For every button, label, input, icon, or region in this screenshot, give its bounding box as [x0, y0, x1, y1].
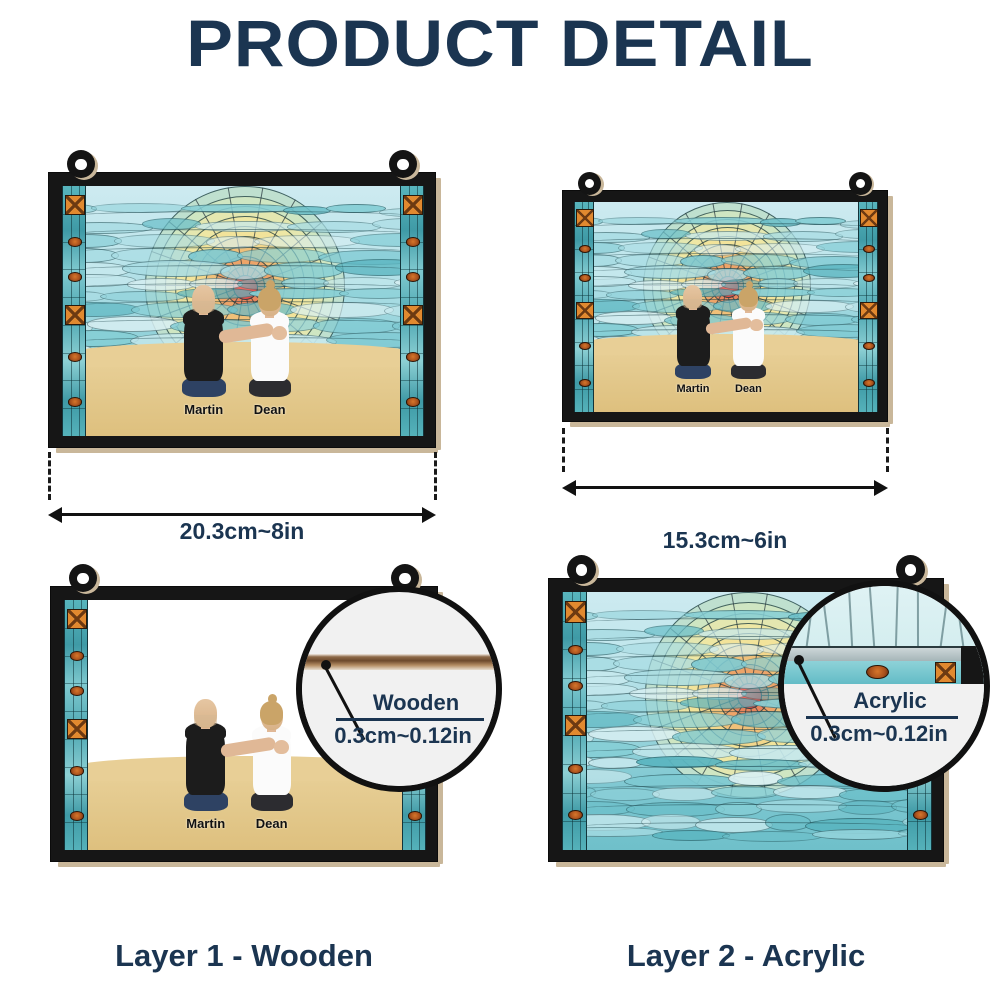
- dimension-extension-right: [434, 452, 437, 500]
- column-lead-h8: [63, 408, 85, 409]
- oval-jewel-1-0: [863, 245, 875, 253]
- hand-on-shoulder: [272, 326, 287, 341]
- hanger-hole: [77, 573, 88, 584]
- oval-jewel-1-3: [406, 397, 421, 407]
- hanger-ring-left[interactable]: [67, 150, 95, 178]
- wave-sweep-11: [587, 822, 907, 832]
- oval-jewel-0-0: [579, 245, 591, 253]
- suncatcher-frame: MartinDean: [562, 190, 888, 422]
- scene-artwork: MartinDean: [86, 186, 400, 436]
- person-right: [594, 202, 858, 412]
- square-jewel-1-1: [403, 305, 424, 326]
- dimension-label-size-large: 20.3cm~8in: [48, 518, 436, 545]
- product-panel-size-small: MartinDean: [562, 190, 888, 422]
- glass-artwork: MartinDean: [62, 186, 424, 436]
- hanger-hole: [576, 564, 588, 576]
- column-lead-h4: [575, 295, 593, 296]
- dimension-label-size-small: 15.3cm~6in: [562, 527, 888, 554]
- column-lead-h7: [401, 380, 423, 381]
- column-lead-h4: [563, 707, 586, 708]
- square-jewel-0-0: [67, 609, 88, 630]
- caption-layer-2: Layer 2 - Acrylic: [548, 938, 944, 974]
- oval-jewel-1-0: [406, 237, 421, 247]
- oval-jewel-0-1: [579, 274, 591, 282]
- oval-jewel-0-2: [70, 766, 85, 776]
- name-label-1: Dean: [237, 816, 306, 831]
- square-jewel-1-0: [860, 209, 877, 226]
- square-jewel-0-0: [565, 601, 587, 623]
- callout-material-wooden: Wooden: [318, 690, 488, 716]
- hair-1: [258, 287, 281, 311]
- oval-jewel-0-2: [568, 764, 584, 774]
- column-lead-h4: [65, 711, 87, 712]
- square-jewel-0-1: [67, 719, 88, 740]
- name-label-1: Dean: [235, 402, 304, 417]
- dimension-line-size-small: [562, 478, 888, 498]
- wave-pane: [601, 700, 688, 711]
- column-lead-h7: [63, 380, 85, 381]
- column-lead-h3: [401, 269, 423, 270]
- oval-jewel-1-3: [408, 811, 423, 821]
- column-lead-h8: [563, 821, 586, 822]
- column-lead-h3: [575, 272, 593, 273]
- ornament-column-left: [562, 592, 587, 850]
- column-lead-h7: [908, 793, 931, 794]
- oval-jewel-0-1: [70, 686, 85, 696]
- magnified-frame-edge: [961, 646, 984, 686]
- square-jewel-0-1: [65, 305, 86, 326]
- hair-1: [739, 287, 759, 307]
- name-label-1: Dean: [719, 383, 777, 395]
- square-jewel-0-1: [576, 302, 593, 319]
- callout-material-acrylic: Acrylic: [790, 688, 968, 714]
- square-jewel-1-1: [860, 302, 877, 319]
- column-lead-h7: [563, 793, 586, 794]
- hand-on-shoulder: [274, 740, 289, 755]
- hanger-ring-left[interactable]: [69, 564, 97, 592]
- oval-jewel-0-1: [568, 681, 584, 691]
- dimension-extension-left-small: [562, 428, 565, 472]
- magnified-square-jewel: [935, 662, 956, 683]
- wave-pane: [722, 831, 822, 842]
- ornament-column-left: [62, 186, 86, 436]
- hanger-ring-right[interactable]: [389, 150, 417, 178]
- caption-layer-1: Layer 1 - Wooden: [50, 938, 438, 974]
- person-right: [86, 186, 400, 436]
- column-lead-h7: [859, 365, 877, 366]
- wood-edge-shadow-bottom: [56, 448, 438, 453]
- column-lead-h3: [65, 683, 87, 684]
- oval-jewel-0-0: [568, 645, 584, 655]
- glass-artwork: MartinDean: [574, 202, 878, 412]
- ornament-column-left: [574, 202, 594, 412]
- hanger-hole: [856, 179, 865, 188]
- oval-jewel-0-3: [70, 811, 85, 821]
- oval-jewel-1-2: [863, 342, 875, 350]
- oval-jewel-0-3: [579, 379, 591, 387]
- callout-thickness-acrylic: 0.3cm~0.12in: [790, 721, 968, 747]
- wood-edge-shadow-bottom: [556, 862, 946, 867]
- column-lead-h7: [65, 794, 87, 795]
- scene-artwork: MartinDean: [594, 202, 858, 412]
- dimension-extension-left: [48, 452, 51, 500]
- column-lead-h8: [859, 389, 877, 390]
- column-lead-h4: [63, 297, 85, 298]
- ornament-column-left: [64, 600, 88, 850]
- column-lead-h8: [401, 408, 423, 409]
- column-lead-h3: [859, 272, 877, 273]
- name-label-0: Martin: [169, 402, 238, 417]
- oval-jewel-0-0: [70, 651, 85, 661]
- page-title: PRODUCT DETAIL: [0, 8, 1000, 78]
- square-jewel-0-0: [576, 209, 593, 226]
- column-lead-h8: [575, 389, 593, 390]
- oval-jewel-0-1: [68, 272, 83, 282]
- hand-on-shoulder: [750, 319, 763, 331]
- hanger-hole: [585, 179, 594, 188]
- wood-edge-shadow-bottom: [58, 862, 440, 867]
- hanger-hole: [399, 573, 410, 584]
- square-jewel-0-1: [565, 715, 587, 737]
- oval-jewel-1-1: [863, 274, 875, 282]
- square-jewel-0-0: [65, 195, 86, 216]
- wood-edge-shadow-bottom: [570, 422, 890, 427]
- column-lead-h7: [403, 794, 425, 795]
- oval-jewel-0-2: [68, 352, 83, 362]
- column-lead-h8: [403, 822, 425, 823]
- callout-wooden: Wooden 0.3cm~0.12in: [318, 690, 488, 749]
- oval-jewel-0-3: [68, 397, 83, 407]
- column-lead-h3: [563, 678, 586, 679]
- hanger-hole: [905, 564, 917, 576]
- oval-jewel-1-1: [406, 272, 421, 282]
- suncatcher-frame: MartinDean: [48, 172, 436, 448]
- column-lead-h3: [63, 269, 85, 270]
- hair-1: [260, 701, 283, 725]
- callout-acrylic: Acrylic 0.3cm~0.12in: [790, 688, 968, 747]
- column-lead-h4: [859, 295, 877, 296]
- hanger-ring-right[interactable]: [849, 172, 872, 195]
- column-lead-h8: [65, 822, 87, 823]
- oval-jewel-0-0: [68, 237, 83, 247]
- column-lead-h8: [908, 821, 931, 822]
- wave-sweep-10: [587, 804, 907, 814]
- column-lead-h4: [401, 297, 423, 298]
- column-lead-h7: [575, 365, 593, 366]
- ornament-column-right: [400, 186, 424, 436]
- name-label-0: Martin: [664, 383, 722, 395]
- callout-thickness-wooden: 0.3cm~0.12in: [318, 723, 488, 749]
- oval-jewel-1-2: [406, 352, 421, 362]
- square-jewel-1-0: [403, 195, 424, 216]
- dimension-extension-right-small: [886, 428, 889, 472]
- product-panel-size-large: MartinDean: [48, 172, 436, 448]
- oval-jewel-1-3: [913, 810, 929, 820]
- oval-jewel-0-3: [568, 810, 584, 820]
- name-label-0: Martin: [171, 816, 240, 831]
- ornament-column-right: [858, 202, 878, 412]
- product-detail-page: PRODUCT DETAIL MartinDean 20.3cm~8in Mar…: [0, 0, 1000, 1000]
- oval-jewel-0-2: [579, 342, 591, 350]
- hanger-hole: [75, 159, 86, 170]
- oval-jewel-1-3: [863, 379, 875, 387]
- hanger-hole: [397, 159, 408, 170]
